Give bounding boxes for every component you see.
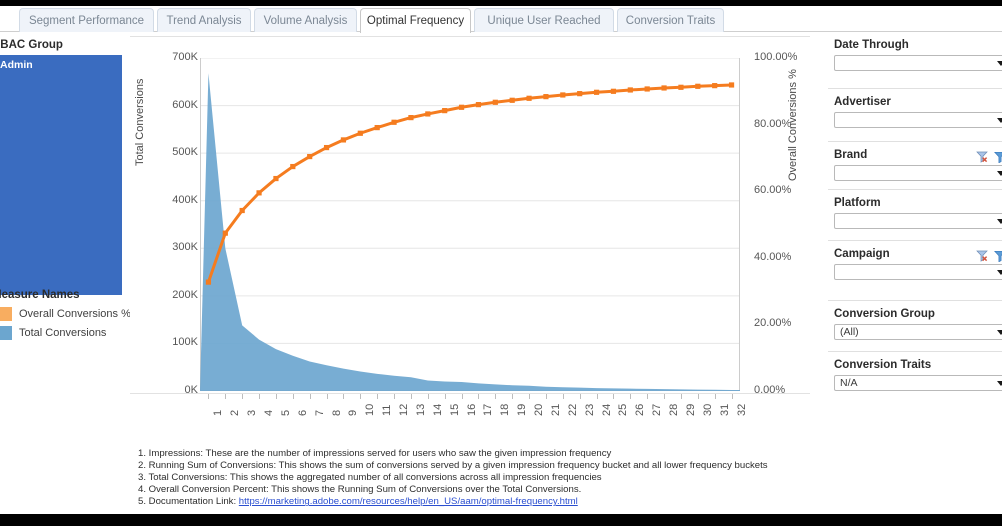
x-axis-tick-label: 1 [212, 410, 224, 416]
x-axis-tick-label: 5 [280, 410, 292, 416]
x-axis-tick-mark [242, 394, 243, 399]
filter-value-conversion-traits: N/A [840, 377, 858, 389]
filter-separator [828, 351, 1002, 352]
x-axis-tick-mark [343, 394, 344, 399]
x-axis-tick-mark [512, 394, 513, 399]
filter-dropdown-icon[interactable] [994, 249, 1002, 267]
chevron-down-icon[interactable] [997, 171, 1002, 176]
x-axis-tick-label: 30 [702, 404, 714, 416]
tab-unique-user-reached[interactable]: Unique User Reached [474, 8, 614, 32]
y-axis-right-title: Overall Conversions % [787, 165, 799, 181]
x-axis-tick-mark [546, 394, 547, 399]
x-axis-tick-label: 4 [263, 410, 275, 416]
x-axis-tick-label: 18 [499, 404, 511, 416]
optimal-frequency-chart: Total Conversions Overall Conversions % … [130, 36, 810, 394]
x-axis-tick-mark [647, 394, 648, 399]
tab-optimal-frequency[interactable]: Optimal Frequency [360, 8, 471, 33]
series-line-marker [645, 86, 650, 91]
x-axis-tick-mark [495, 394, 496, 399]
x-axis-tick-label: 2 [229, 410, 241, 416]
x-axis-tick-mark [613, 394, 614, 399]
legend-label: Total Conversions [19, 327, 106, 339]
y-axis-left-tick-label: 100K [172, 336, 198, 348]
clear-filter-icon[interactable] [976, 150, 989, 168]
y-axis-right-tick-label: 100.00% [754, 51, 797, 63]
filter-select-conversion-traits[interactable]: N/A [834, 375, 1002, 391]
x-axis-ticks: 1234567891011121314151617181920212223242… [130, 394, 810, 430]
series-line-marker [341, 137, 346, 142]
filter-label-conversion-traits: Conversion Traits [834, 359, 931, 371]
footnote-line: 4. Overall Conversion Percent: This show… [138, 484, 838, 496]
x-axis-tick-mark [715, 394, 716, 399]
x-axis-tick-label: 9 [347, 410, 359, 416]
x-axis-tick-mark [428, 394, 429, 399]
x-axis-tick-mark [445, 394, 446, 399]
series-line-marker [661, 85, 666, 90]
footnote-line: 3. Total Conversions: This shows the agg… [138, 472, 838, 484]
y-axis-left-tick-label: 200K [172, 289, 198, 301]
series-line-marker [560, 92, 565, 97]
series-line-marker [425, 111, 430, 116]
legend-item[interactable]: Total Conversions [0, 326, 106, 340]
x-axis-tick-mark [327, 394, 328, 399]
series-line-marker [729, 82, 734, 87]
series-line-marker [526, 96, 531, 101]
x-axis-tick-mark [478, 394, 479, 399]
x-axis-tick-label: 23 [584, 404, 596, 416]
filter-separator [828, 300, 1002, 301]
filter-label-date-through: Date Through [834, 39, 909, 51]
filter-icons-campaign [976, 249, 1002, 267]
x-axis-tick-label: 31 [719, 404, 731, 416]
series-line-marker [324, 145, 329, 150]
x-axis-tick-label: 3 [246, 410, 258, 416]
chevron-down-icon[interactable] [997, 381, 1002, 386]
x-axis-tick-mark [310, 394, 311, 399]
rbac-group-list[interactable]: Admin [0, 55, 122, 295]
x-axis-tick-mark [208, 394, 209, 399]
x-axis-tick-label: 11 [381, 405, 393, 416]
y-axis-left-tick-label: 500K [172, 146, 198, 158]
documentation-link[interactable]: https://marketing.adobe.com/resources/he… [239, 496, 578, 507]
series-line-marker [678, 85, 683, 90]
filter-label-advertiser: Advertiser [834, 96, 891, 108]
filter-label-conversion-group: Conversion Group [834, 308, 935, 320]
x-axis-tick-mark [462, 394, 463, 399]
series-line-marker [442, 108, 447, 113]
series-line-marker [459, 105, 464, 110]
filter-select-platform[interactable] [834, 213, 1002, 229]
x-axis-tick-label: 29 [685, 404, 697, 416]
footnote-doc-prefix: 5. Documentation Link: [138, 496, 239, 507]
x-axis-tick-label: 6 [297, 410, 309, 416]
series-line-marker [307, 154, 312, 159]
series-line-marker [476, 102, 481, 107]
y-axis-left-tick-label: 600K [172, 99, 198, 111]
filter-label-platform: Platform [834, 197, 881, 209]
rbac-group-title: RBAC Group [0, 39, 63, 51]
x-axis-tick-mark [529, 394, 530, 399]
chevron-down-icon[interactable] [997, 61, 1002, 66]
y-axis-left-title: Total Conversions [134, 150, 146, 166]
application-root: Segment PerformanceTrend AnalysisVolume … [0, 0, 1002, 526]
legend-item[interactable]: Overall Conversions % [0, 307, 131, 321]
rbac-group-item-admin[interactable]: Admin [0, 59, 33, 71]
legend-swatch-icon [0, 307, 12, 321]
filter-panel: Date ThroughAdvertiserBrandPlatformCampa… [828, 33, 1002, 503]
footnote-doc-line: 5. Documentation Link: https://marketing… [138, 496, 838, 508]
x-axis-tick-label: 14 [432, 404, 444, 416]
y-axis-right-tick-label: 80.00% [754, 118, 791, 130]
series-line-marker [290, 164, 295, 169]
bottom-chrome-bar [0, 514, 1002, 526]
series-line-marker [712, 83, 717, 88]
x-axis-tick-mark [411, 394, 412, 399]
y-axis-right-tick-label: 60.00% [754, 184, 791, 196]
series-line-overall-conversions-pct [208, 85, 731, 282]
y-axis-left-tick-label: 400K [172, 194, 198, 206]
x-axis-tick-label: 17 [482, 404, 494, 416]
x-axis-tick-mark [580, 394, 581, 399]
x-axis-tick-mark [360, 394, 361, 399]
series-line-marker [408, 115, 413, 120]
filter-separator [828, 88, 1002, 89]
series-line-marker [510, 98, 515, 103]
x-axis-tick-label: 27 [651, 404, 663, 416]
y-axis-right-tick-label: 20.00% [754, 317, 791, 329]
x-axis-tick-mark [732, 394, 733, 399]
x-axis-tick-label: 21 [550, 404, 562, 416]
x-axis-tick-mark [394, 394, 395, 399]
x-axis-tick-mark [630, 394, 631, 399]
legend-swatch-icon [0, 326, 12, 340]
tab-segment-performance[interactable]: Segment Performance [19, 8, 154, 32]
x-axis-tick-label: 19 [516, 404, 528, 416]
legend-label: Overall Conversions % [19, 308, 131, 320]
x-axis-tick-mark [259, 394, 260, 399]
tab-volume-analysis[interactable]: Volume Analysis [254, 8, 357, 32]
x-axis-tick-label: 26 [634, 404, 646, 416]
chart-plot-area [200, 58, 740, 391]
footnote-line: 2. Running Sum of Conversions: This show… [138, 460, 838, 472]
x-axis-tick-label: 25 [617, 404, 629, 416]
x-axis-tick-label: 8 [331, 410, 343, 416]
x-axis-tick-label: 7 [314, 410, 326, 416]
series-line-marker [695, 84, 700, 89]
filter-select-advertiser[interactable] [834, 112, 1002, 128]
series-line-marker [273, 176, 278, 181]
tab-trend-analysis[interactable]: Trend Analysis [157, 8, 251, 32]
x-axis-tick-label: 12 [398, 404, 410, 416]
filter-value-conversion-group: (All) [840, 326, 859, 338]
filter-icons-brand [976, 150, 1002, 168]
clear-filter-icon[interactable] [976, 249, 989, 267]
x-axis-tick-label: 22 [567, 404, 579, 416]
left-sidebar: RBAC Group Admin Measure Names Overall C… [0, 33, 124, 493]
x-axis-tick-mark [276, 394, 277, 399]
x-axis-tick-mark [698, 394, 699, 399]
x-axis-tick-label: 28 [668, 404, 680, 416]
y-axis-left-tick-label: 300K [172, 241, 198, 253]
series-line-marker [240, 208, 245, 213]
series-line-marker [391, 120, 396, 125]
footnotes-block: 1. Impressions: These are the number of … [138, 448, 838, 508]
y-axis-left-tick-label: 700K [172, 51, 198, 63]
chevron-down-icon[interactable] [997, 330, 1002, 335]
chevron-down-icon[interactable] [997, 270, 1002, 275]
series-line-marker [543, 94, 548, 99]
x-axis-tick-mark [377, 394, 378, 399]
series-line-marker [206, 280, 211, 285]
x-axis-tick-mark [563, 394, 564, 399]
x-axis-tick-label: 13 [415, 404, 427, 416]
series-line-marker [358, 131, 363, 136]
filter-label-campaign: Campaign [834, 248, 890, 260]
series-line-marker [628, 87, 633, 92]
x-axis-tick-label: 15 [449, 404, 461, 416]
filter-separator [828, 141, 1002, 142]
x-axis-tick-label: 10 [364, 404, 376, 416]
x-axis-tick-mark [597, 394, 598, 399]
chevron-down-icon[interactable] [997, 118, 1002, 123]
filter-separator [828, 240, 1002, 241]
x-axis-tick-label: 16 [466, 404, 478, 416]
series-line-marker [223, 231, 228, 236]
x-axis-tick-mark [293, 394, 294, 399]
x-axis-tick-mark [225, 394, 226, 399]
filter-select-conversion-group[interactable]: (All) [834, 324, 1002, 340]
series-line-marker [577, 91, 582, 96]
x-axis-tick-label: 32 [736, 404, 748, 416]
chevron-down-icon[interactable] [997, 219, 1002, 224]
series-line-marker [375, 125, 380, 130]
series-line-marker [594, 90, 599, 95]
series-line-marker [611, 89, 616, 94]
measure-names-title: Measure Names [0, 289, 80, 301]
filter-dropdown-icon[interactable] [994, 150, 1002, 168]
series-line-marker [256, 190, 261, 195]
y-axis-right-tick-label: 40.00% [754, 251, 791, 263]
filter-select-date-through[interactable] [834, 55, 1002, 71]
footnote-line: 1. Impressions: These are the number of … [138, 448, 838, 460]
x-axis-tick-mark [681, 394, 682, 399]
filter-separator [828, 189, 1002, 190]
tab-conversion-traits[interactable]: Conversion Traits [617, 8, 724, 32]
x-axis-tick-label: 20 [533, 404, 545, 416]
x-axis-tick-mark [664, 394, 665, 399]
series-line-marker [493, 100, 498, 105]
x-axis-tick-label: 24 [601, 404, 613, 416]
tab-strip: Segment PerformanceTrend AnalysisVolume … [0, 6, 1002, 32]
filter-label-brand: Brand [834, 149, 867, 161]
